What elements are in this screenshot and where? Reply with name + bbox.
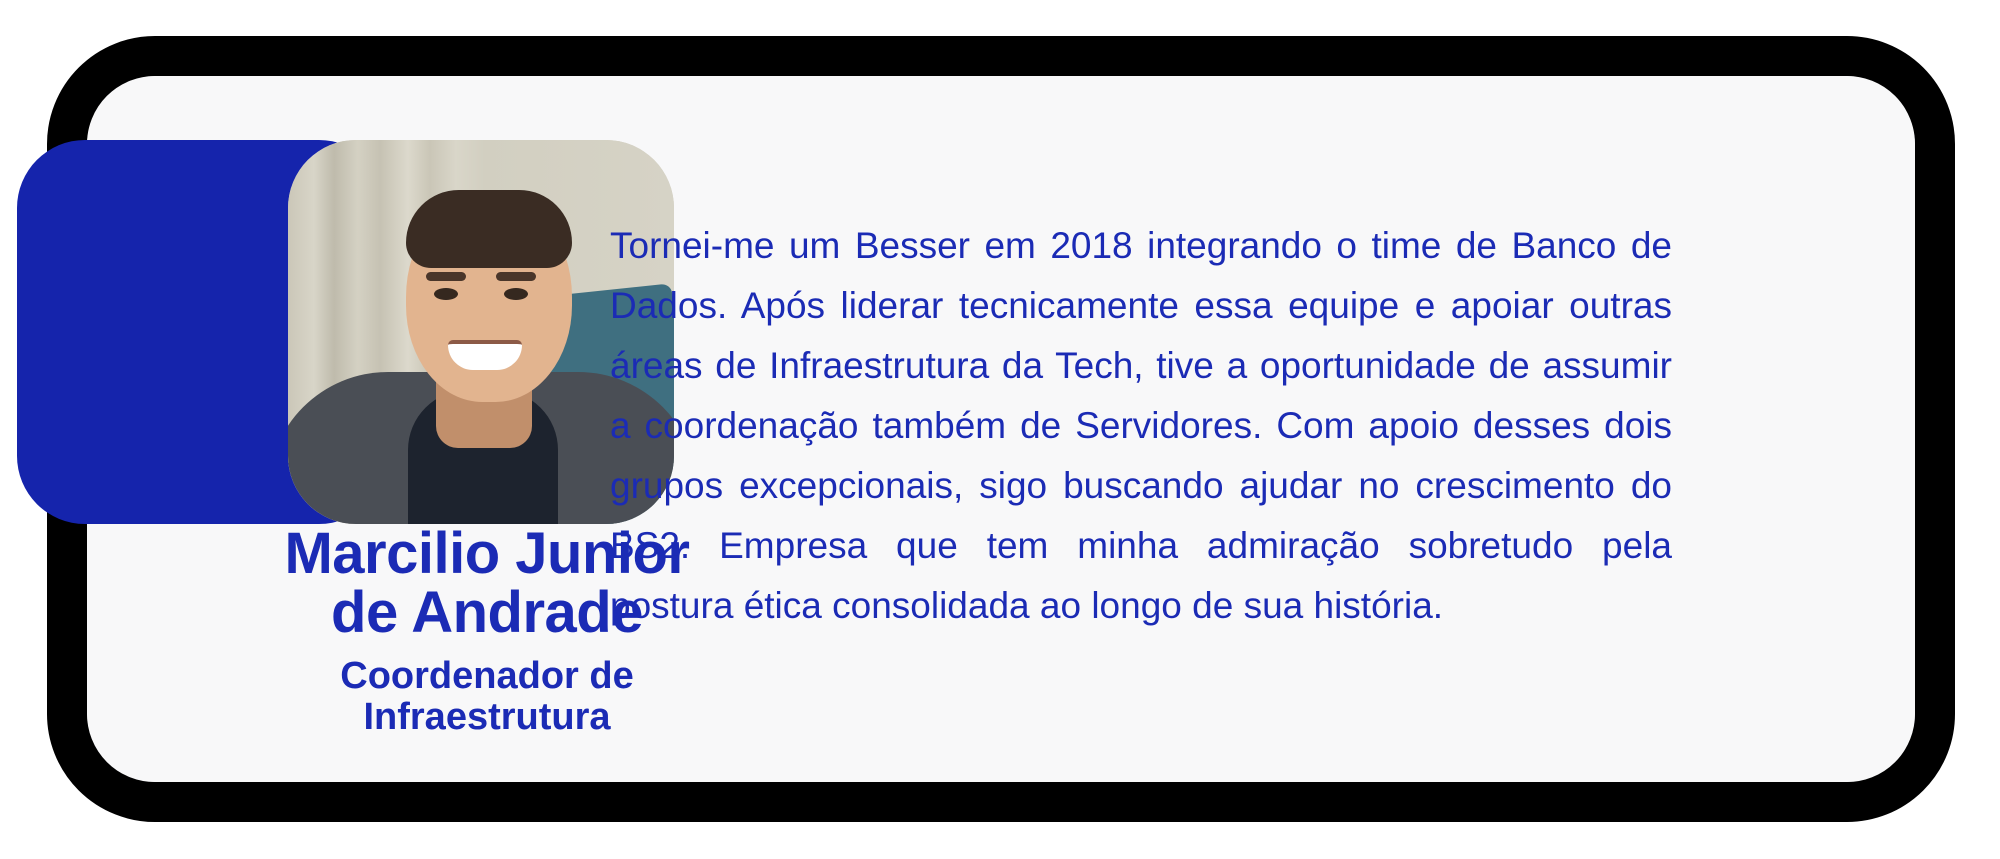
- photo-eyebrow-right: [496, 272, 536, 281]
- quote-block: Tornei-me um Besser em 2018 integrando o…: [610, 216, 1672, 636]
- photo-eye-left: [434, 288, 458, 300]
- testimonial-quote: Tornei-me um Besser em 2018 integrando o…: [610, 216, 1672, 636]
- photo-mouth: [448, 340, 522, 370]
- card-inner: Marcilio Junior de Andrade Coordenador d…: [87, 76, 1915, 782]
- testimonial-card: Marcilio Junior de Andrade Coordenador d…: [47, 36, 1955, 822]
- photo-eye-right: [504, 288, 528, 300]
- photo-eyebrow-left: [426, 272, 466, 281]
- testimonial-stage: Marcilio Junior de Andrade Coordenador d…: [0, 0, 2000, 859]
- photo-hair: [406, 190, 572, 268]
- person-role: Coordenador de Infraestrutura: [147, 656, 827, 738]
